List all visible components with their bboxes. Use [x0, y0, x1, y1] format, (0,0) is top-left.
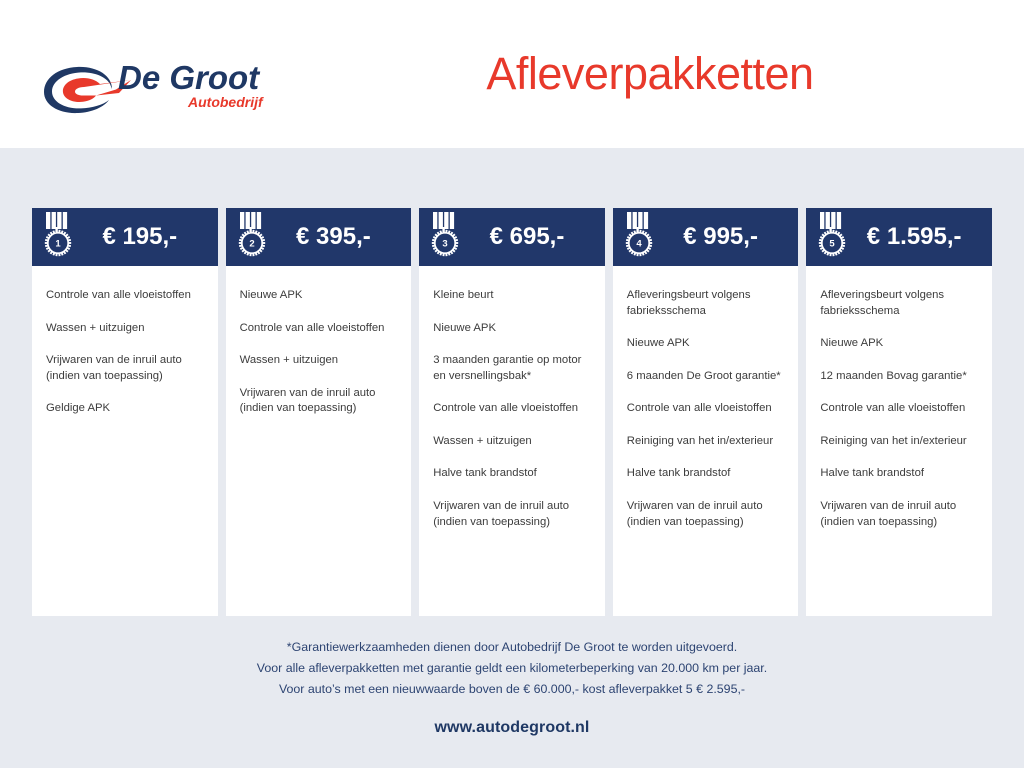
package-price: € 195,- — [76, 223, 208, 251]
medal-icon: 5 — [814, 210, 850, 262]
logo-wordmark: De Groot — [118, 59, 261, 96]
package-card[interactable]: 3 € 695,-Kleine beurtNieuwe APK3 maanden… — [419, 208, 605, 616]
package-feature-item: Kleine beurt — [433, 288, 591, 304]
package-feature-item: Afleveringsbeurt volgens fabrieksschema — [820, 288, 978, 319]
package-card[interactable]: 1 € 195,-Controle van alle vloeistoffenW… — [32, 208, 218, 616]
package-card[interactable]: 4 € 995,-Afleveringsbeurt volgens fabrie… — [613, 208, 799, 616]
package-feature-item: Halve tank brandstof — [433, 466, 591, 482]
package-feature-item: Reiniging van het in/exterieur — [820, 434, 978, 450]
medal-rank-number: 3 — [443, 239, 448, 250]
footer-line: *Garantiewerkzaamheden dienen door Autob… — [0, 637, 1024, 658]
medal-disc: 3 — [432, 230, 458, 256]
medal-icon: 1 — [40, 210, 76, 262]
medal-disc: 2 — [238, 230, 264, 256]
package-card[interactable]: 2 € 395,-Nieuwe APKControle van alle vlo… — [226, 208, 412, 616]
package-feature-list: Controle van alle vloeistoffenWassen + u… — [32, 266, 218, 616]
medal-icon: 5 — [814, 210, 850, 262]
medal-ribbon — [46, 212, 67, 232]
package-feature-item: Halve tank brandstof — [820, 466, 978, 482]
package-feature-item: Vrijwaren van de inruil auto (indien van… — [627, 499, 785, 530]
package-feature-item: Halve tank brandstof — [627, 466, 785, 482]
page-title: Afleverpakketten — [300, 48, 1000, 100]
package-feature-item: Controle van alle vloeistoffen — [46, 288, 204, 304]
package-feature-item: Vrijwaren van de inruil auto (indien van… — [46, 353, 204, 384]
logo-tagline: Autobedrijf — [187, 94, 264, 110]
medal-ribbon — [433, 212, 454, 232]
medal-rank-number: 4 — [636, 239, 642, 250]
package-feature-item: Wassen + uitzuigen — [240, 353, 398, 369]
medal-ribbon — [240, 212, 261, 232]
package-card-list: 1 € 195,-Controle van alle vloeistoffenW… — [32, 208, 992, 616]
package-card-header: 1 € 195,- — [32, 208, 218, 266]
footer-disclaimer: *Garantiewerkzaamheden dienen door Autob… — [0, 637, 1024, 699]
package-feature-list: Kleine beurtNieuwe APK3 maanden garantie… — [419, 266, 605, 616]
medal-icon: 2 — [234, 210, 270, 262]
package-feature-item: Controle van alle vloeistoffen — [433, 401, 591, 417]
package-feature-item: Wassen + uitzuigen — [433, 434, 591, 450]
website-url-link[interactable]: www.autodegroot.nl — [0, 719, 1024, 737]
package-feature-item: Vrijwaren van de inruil auto (indien van… — [433, 499, 591, 530]
medal-icon: 4 — [621, 210, 657, 262]
package-feature-item: Wassen + uitzuigen — [46, 321, 204, 337]
package-feature-item: Controle van alle vloeistoffen — [240, 321, 398, 337]
package-feature-item: Controle van alle vloeistoffen — [820, 401, 978, 417]
package-feature-item: 6 maanden De Groot garantie* — [627, 369, 785, 385]
medal-ribbon — [627, 212, 648, 232]
package-card-header: 3 € 695,- — [419, 208, 605, 266]
medal-disc: 1 — [45, 230, 71, 256]
package-price: € 1.595,- — [850, 223, 982, 251]
package-feature-item: Nieuwe APK — [627, 336, 785, 352]
package-price: € 395,- — [270, 223, 402, 251]
package-feature-list: Afleveringsbeurt volgens fabrieksschemaN… — [613, 266, 799, 616]
medal-rank-number: 2 — [249, 239, 254, 250]
company-logo: De Groot Autobedrijf — [40, 46, 270, 124]
medal-icon: 3 — [427, 210, 463, 262]
package-feature-item: Controle van alle vloeistoffen — [627, 401, 785, 417]
logo-graphic: De Groot Autobedrijf — [40, 46, 270, 124]
package-feature-item: Nieuwe APK — [433, 321, 591, 337]
medal-rank-number: 5 — [830, 239, 836, 250]
package-feature-item: 12 maanden Bovag garantie* — [820, 369, 978, 385]
header-band: De Groot Autobedrijf Afleverpakketten — [0, 0, 1024, 148]
package-feature-item: Afleveringsbeurt volgens fabrieksschema — [627, 288, 785, 319]
package-card[interactable]: 5 € 1.595,-Afleveringsbeurt volgens fabr… — [806, 208, 992, 616]
medal-icon: 4 — [621, 210, 657, 262]
medal-ribbon — [820, 212, 841, 232]
package-feature-list: Nieuwe APKControle van alle vloeistoffen… — [226, 266, 412, 616]
package-feature-item: Reiniging van het in/exterieur — [627, 434, 785, 450]
package-card-header: 2 € 395,- — [226, 208, 412, 266]
medal-icon: 3 — [427, 210, 463, 262]
package-feature-item: Nieuwe APK — [240, 288, 398, 304]
medal-icon: 2 — [234, 210, 270, 262]
footer-line: Voor alle afleverpakketten met garantie … — [0, 658, 1024, 679]
package-feature-item: Vrijwaren van de inruil auto (indien van… — [240, 386, 398, 417]
package-card-header: 4 € 995,- — [613, 208, 799, 266]
package-feature-item: 3 maanden garantie op motor en versnelli… — [433, 353, 591, 384]
package-card-header: 5 € 1.595,- — [806, 208, 992, 266]
medal-rank-number: 1 — [55, 239, 61, 250]
package-feature-item: Nieuwe APK — [820, 336, 978, 352]
medal-disc: 5 — [819, 230, 845, 256]
package-feature-item: Vrijwaren van de inruil auto (indien van… — [820, 499, 978, 530]
package-feature-list: Afleveringsbeurt volgens fabrieksschemaN… — [806, 266, 992, 616]
package-price: € 695,- — [463, 223, 595, 251]
medal-disc: 4 — [626, 230, 652, 256]
logo-swoosh-ring — [44, 67, 112, 113]
package-price: € 995,- — [657, 223, 789, 251]
footer-line: Voor auto’s met een nieuwwaarde boven de… — [0, 679, 1024, 700]
medal-icon: 1 — [40, 210, 76, 262]
package-feature-item: Geldige APK — [46, 401, 204, 417]
footer: *Garantiewerkzaamheden dienen door Autob… — [0, 637, 1024, 737]
